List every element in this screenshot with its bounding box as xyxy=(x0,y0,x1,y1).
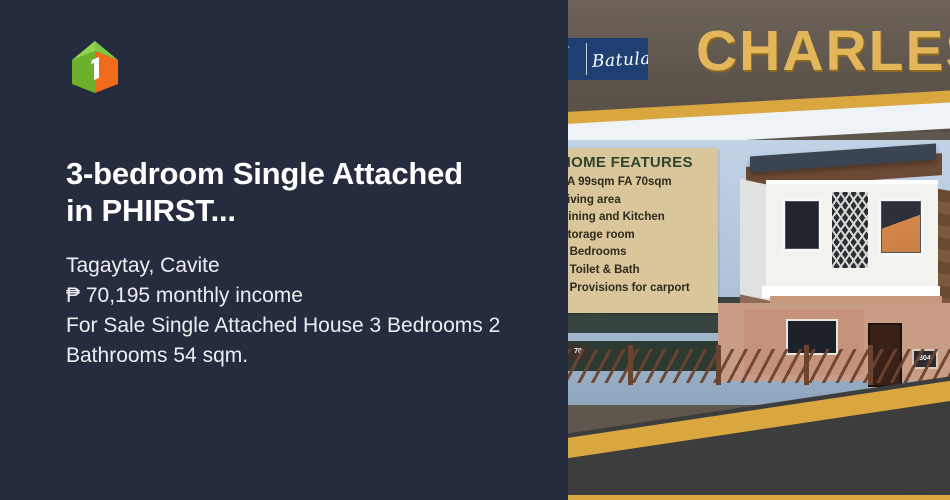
fence-post xyxy=(628,345,633,385)
feature-item: Storage room xyxy=(568,227,712,245)
page-title: 3-bedroom Single Attached in PHIRST... xyxy=(66,156,486,229)
brand-signage-text: CHARLES xyxy=(696,18,950,84)
photo-scene: HOME FEATURES LA 99sqm FA 70sqm Living a… xyxy=(568,140,950,405)
badge-initials: T s xyxy=(568,44,569,72)
home-features-heading: HOME FEATURES xyxy=(568,154,712,171)
fence-post xyxy=(716,345,721,385)
listing-info-panel: 3-bedroom Single Attached in PHIRST... T… xyxy=(0,0,568,500)
chevron-grille-icon xyxy=(830,190,870,270)
listing-meta: Tagaytay, Cavite ₱ 70,195 monthly income… xyxy=(66,251,528,370)
house-logo-icon xyxy=(66,38,124,96)
chevron-fence xyxy=(568,349,950,383)
home-features-panel: HOME FEATURES LA 99sqm FA 70sqm Living a… xyxy=(568,148,718,313)
listing-description: For Sale Single Attached House 3 Bedroom… xyxy=(66,311,521,371)
listing-income: ₱ 70,195 monthly income xyxy=(66,281,528,311)
developer-badge: T s Batulao xyxy=(568,38,648,80)
feature-item: LA 99sqm FA 70sqm xyxy=(568,174,712,192)
feature-item: 3 Bedrooms xyxy=(568,244,712,262)
fence-post xyxy=(868,345,873,385)
fence-post xyxy=(804,345,809,385)
feature-item: 2 Provisions for carport xyxy=(568,280,712,298)
bottom-gold-stripe xyxy=(568,495,950,500)
house-window-left xyxy=(782,198,822,252)
house-window-right xyxy=(878,198,924,256)
listing-location: Tagaytay, Cavite xyxy=(66,251,528,281)
feature-item: Living area xyxy=(568,192,712,210)
feature-item: Dining and Kitchen xyxy=(568,209,712,227)
badge-location-script: Batulao xyxy=(592,48,648,72)
feature-item: 2 Toilet & Bath xyxy=(568,262,712,280)
property-listing-card[interactable]: 3-bedroom Single Attached in PHIRST... T… xyxy=(0,0,950,500)
badge-divider xyxy=(586,43,587,75)
listing-photo[interactable]: T s Batulao CHARLES xyxy=(568,0,950,500)
